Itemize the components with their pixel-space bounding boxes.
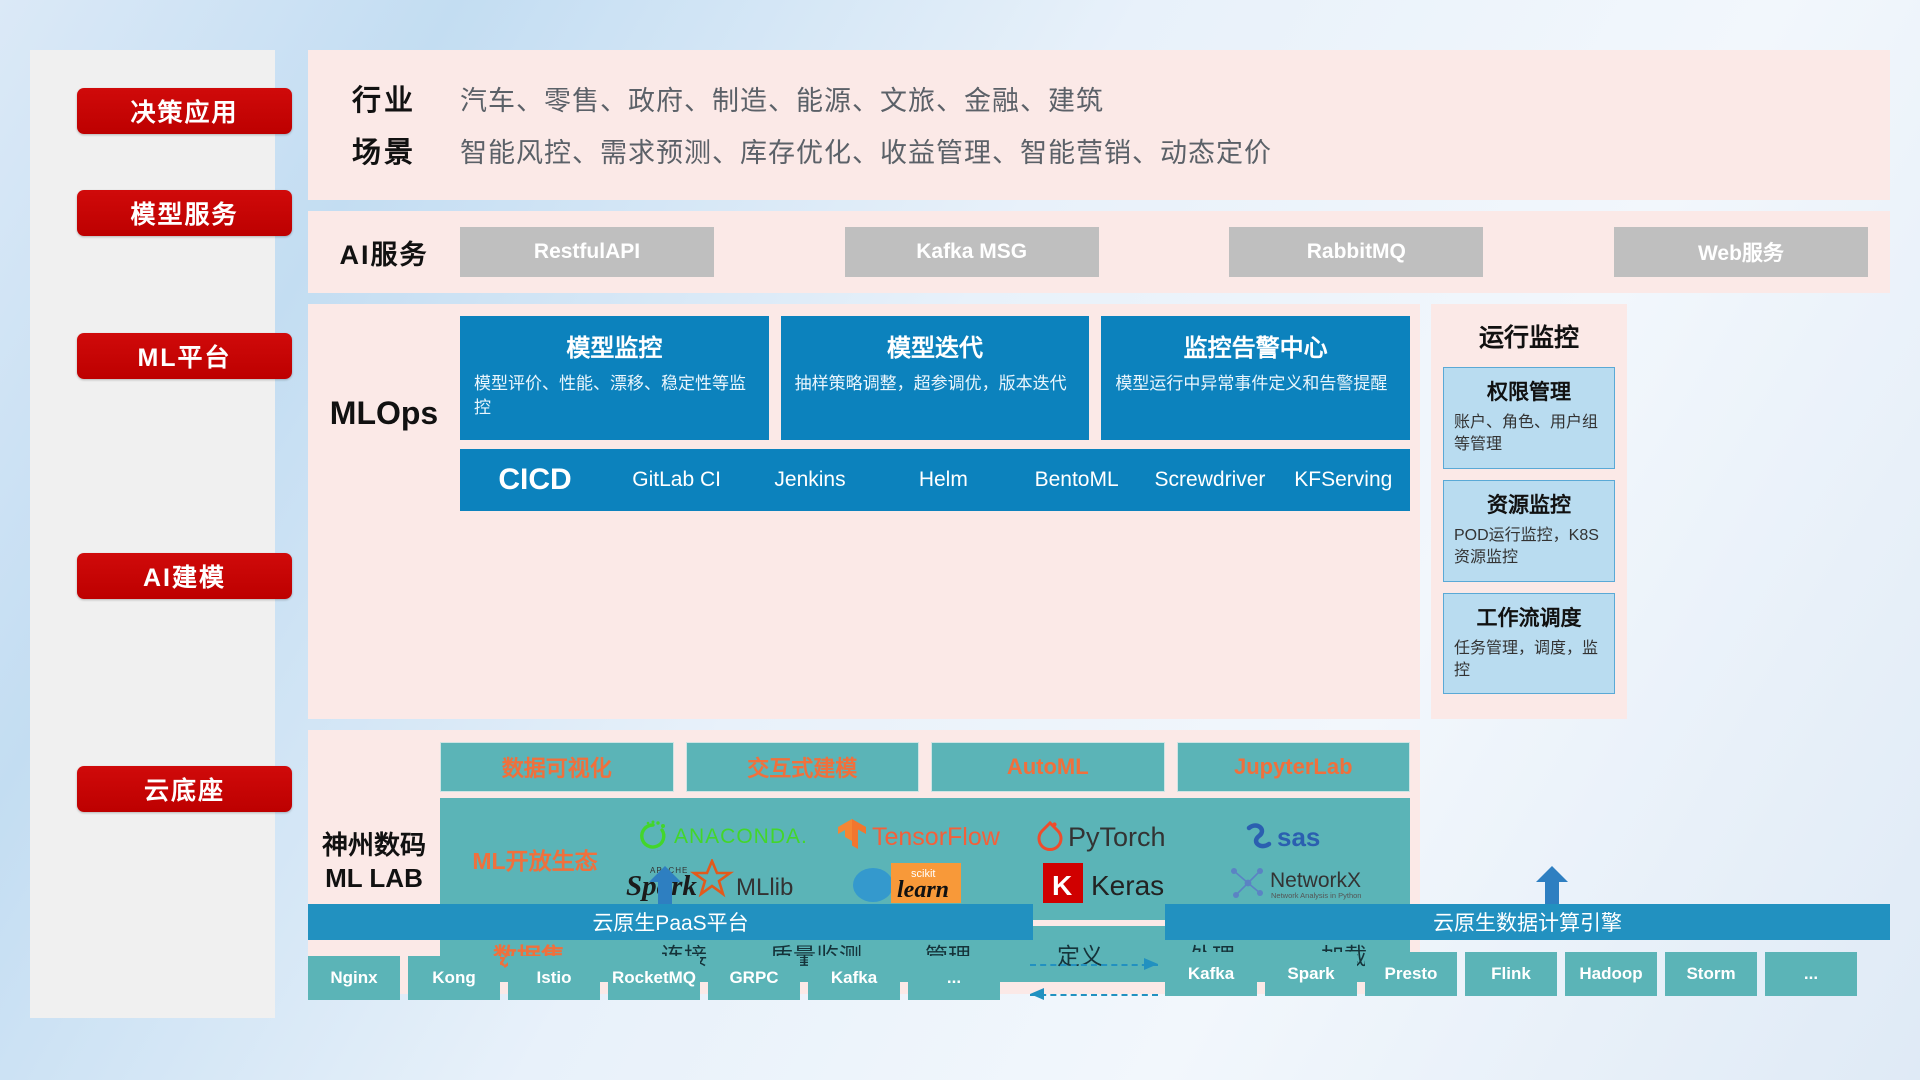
monitor-card-title: 权限管理	[1454, 376, 1604, 406]
cicd-tool-kfserving[interactable]: KFServing	[1277, 466, 1410, 494]
mlops-band: MLOps 模型监控 模型评价、性能、漂移、稳定性等监控 模型迭代 抽样策略调整…	[308, 304, 1420, 719]
industry-label: 行业	[308, 77, 460, 119]
application-band: 行业 汽车、零售、政府、制造、能源、文旅、金融、建筑 场景 智能风控、需求预测、…	[308, 50, 1890, 200]
runtime-monitor-panel: 运行监控 权限管理 账户、角色、用户组等管理 资源监控 POD运行监控，K8S资…	[1431, 304, 1627, 719]
ai-service-item-rabbitmq[interactable]: RabbitMQ	[1229, 227, 1483, 277]
svg-text:PyTorch: PyTorch	[1068, 822, 1166, 852]
cloud-foundation-area: 云原生PaaS平台 云原生数据计算引擎 Nginx Kong Istio Roc…	[308, 890, 1890, 1020]
mlops-card-model-monitor[interactable]: 模型监控 模型评价、性能、漂移、稳定性等监控	[460, 316, 769, 440]
mlops-card-desc: 抽样策略调整，超参调优，版本迭代	[795, 372, 1076, 396]
ai-service-item-web-service[interactable]: Web服务	[1614, 227, 1868, 277]
rail-item-cloud-base[interactable]: 云底座	[77, 766, 292, 812]
engine-chip-storm[interactable]: Storm	[1665, 952, 1757, 996]
monitor-card-title: 资源监控	[1454, 489, 1604, 519]
diagram-canvas: 决策应用 模型服务 ML平台 AI建模 云底座 行业 汽车、零售、政府、制造、能…	[0, 0, 1920, 1080]
mllab-label-line2: ML LAB	[325, 863, 423, 893]
mlops-label: MLOps	[308, 316, 460, 511]
ai-service-item-kafka-msg[interactable]: Kafka MSG	[845, 227, 1099, 277]
rail-item-ml-platform[interactable]: ML平台	[77, 333, 292, 379]
cicd-tool-bentoml[interactable]: BentoML	[1010, 466, 1143, 494]
industry-values: 汽车、零售、政府、制造、能源、文旅、金融、建筑	[460, 79, 1104, 118]
monitor-card-resource[interactable]: 资源监控 POD运行监控，K8S资源监控	[1443, 480, 1615, 582]
cicd-bar: CICD GitLab CI Jenkins Helm BentoML Scre…	[460, 449, 1410, 511]
mllab-tool-data-visualization[interactable]: 数据可视化	[440, 742, 674, 792]
mlops-card-title: 模型监控	[474, 328, 755, 363]
monitor-card-desc: 账户、角色、用户组等管理	[1454, 412, 1604, 457]
engine-chip-more[interactable]: ...	[1765, 952, 1857, 996]
paas-chip-nginx[interactable]: Nginx	[308, 956, 400, 1000]
mlops-card-model-iteration[interactable]: 模型迭代 抽样策略调整，超参调优，版本迭代	[781, 316, 1090, 440]
cicd-tool-helm[interactable]: Helm	[877, 466, 1010, 494]
rail-item-decision[interactable]: 决策应用	[77, 88, 292, 134]
pytorch-logo: PyTorch	[1034, 815, 1224, 857]
monitor-card-workflow[interactable]: 工作流调度 任务管理，调度，监控	[1443, 593, 1615, 695]
layer-rail: 决策应用 模型服务 ML平台 AI建模 云底座	[30, 50, 275, 1018]
paas-chip-kafka[interactable]: Kafka	[808, 956, 900, 1000]
cicd-title: CICD	[460, 463, 610, 497]
ai-service-item-restfulapi[interactable]: RestfulAPI	[460, 227, 714, 277]
paas-chip-rocketmq[interactable]: RocketMQ	[608, 956, 700, 1000]
mlops-card-desc: 模型运行中异常事件定义和告警提醒	[1115, 372, 1396, 396]
mlops-card-row: 模型监控 模型评价、性能、漂移、稳定性等监控 模型迭代 抽样策略调整，超参调优，…	[460, 316, 1420, 440]
scenario-values: 智能风控、需求预测、库存优化、收益管理、智能营销、动态定价	[460, 131, 1272, 170]
rail-item-ai-modeling[interactable]: AI建模	[77, 553, 292, 599]
arrow-left-icon	[1028, 987, 1044, 1003]
engine-bar[interactable]: 云原生数据计算引擎	[1165, 904, 1890, 940]
monitor-card-desc: 任务管理，调度，监控	[1454, 638, 1604, 683]
mlops-card-alert-center[interactable]: 监控告警中心 模型运行中异常事件定义和告警提醒	[1101, 316, 1410, 440]
paas-chip-more[interactable]: ...	[908, 956, 1000, 1000]
arrow-right-icon	[1144, 957, 1160, 973]
paas-chip-istio[interactable]: Istio	[508, 956, 600, 1000]
mllab-tool-automl[interactable]: AutoML	[931, 742, 1165, 792]
anaconda-logo: ANACONDA.	[629, 816, 829, 856]
engine-chip-presto[interactable]: Presto	[1365, 952, 1457, 996]
engine-chip-spark[interactable]: Spark	[1265, 952, 1357, 996]
ai-service-band: AI服务 RestfulAPI Kafka MSG RabbitMQ Web服务	[308, 211, 1890, 293]
cicd-tool-gitlab[interactable]: GitLab CI	[610, 466, 743, 494]
engine-chip-kafka[interactable]: Kafka	[1165, 952, 1257, 996]
ai-service-label: AI服务	[308, 233, 460, 272]
paas-bar[interactable]: 云原生PaaS平台	[308, 904, 1033, 940]
paas-chip-kong[interactable]: Kong	[408, 956, 500, 1000]
ai-service-items: RestfulAPI Kafka MSG RabbitMQ Web服务	[460, 227, 1890, 277]
industry-row: 行业 汽车、零售、政府、制造、能源、文旅、金融、建筑	[308, 72, 1890, 124]
svg-text:TensorFlow: TensorFlow	[872, 823, 1001, 851]
mllab-label-line1: 神州数码	[322, 830, 426, 860]
mlops-card-desc: 模型评价、性能、漂移、稳定性等监控	[474, 372, 755, 420]
arrow-up-engine-icon	[1535, 866, 1569, 904]
tensorflow-logo: TensorFlow	[834, 815, 1034, 857]
paas-chip-grpc[interactable]: GRPC	[708, 956, 800, 1000]
mllab-tool-interactive-modeling[interactable]: 交互式建模	[686, 742, 920, 792]
sas-logo: sas	[1239, 816, 1389, 856]
runtime-monitor-title: 运行监控	[1443, 318, 1615, 354]
connector-dashed-bottom	[1030, 994, 1158, 996]
connector-dashed-top	[1030, 964, 1158, 966]
svg-text:NetworkX: NetworkX	[1270, 869, 1361, 892]
mlops-and-monitor-row: MLOps 模型监控 模型评价、性能、漂移、稳定性等监控 模型迭代 抽样策略调整…	[308, 304, 1890, 719]
mllab-tool-jupyterlab[interactable]: JupyterLab	[1177, 742, 1411, 792]
engine-chip-flink[interactable]: Flink	[1465, 952, 1557, 996]
cicd-tool-jenkins[interactable]: Jenkins	[743, 466, 876, 494]
engine-chip-hadoop[interactable]: Hadoop	[1565, 952, 1657, 996]
svg-text:ANACONDA.: ANACONDA.	[674, 825, 808, 848]
monitor-card-desc: POD运行监控，K8S资源监控	[1454, 525, 1604, 570]
architecture-board: 行业 汽车、零售、政府、制造、能源、文旅、金融、建筑 场景 智能风控、需求预测、…	[308, 50, 1890, 994]
mlops-card-title: 模型迭代	[795, 328, 1076, 363]
rail-item-model-service[interactable]: 模型服务	[77, 190, 292, 236]
scenario-label: 场景	[308, 129, 460, 171]
mlops-card-title: 监控告警中心	[1115, 328, 1396, 363]
monitor-card-permission[interactable]: 权限管理 账户、角色、用户组等管理	[1443, 367, 1615, 469]
mllab-tool-row: 数据可视化 交互式建模 AutoML JupyterLab	[440, 742, 1410, 792]
arrow-up-paas-icon	[648, 866, 682, 904]
monitor-card-title: 工作流调度	[1454, 602, 1604, 632]
svg-text:sas: sas	[1277, 822, 1320, 852]
cicd-tool-screwdriver[interactable]: Screwdriver	[1143, 466, 1276, 494]
ml-ecosystem-label: ML开放生态	[446, 842, 624, 876]
scenario-row: 场景 智能风控、需求预测、库存优化、收益管理、智能营销、动态定价	[308, 124, 1890, 176]
